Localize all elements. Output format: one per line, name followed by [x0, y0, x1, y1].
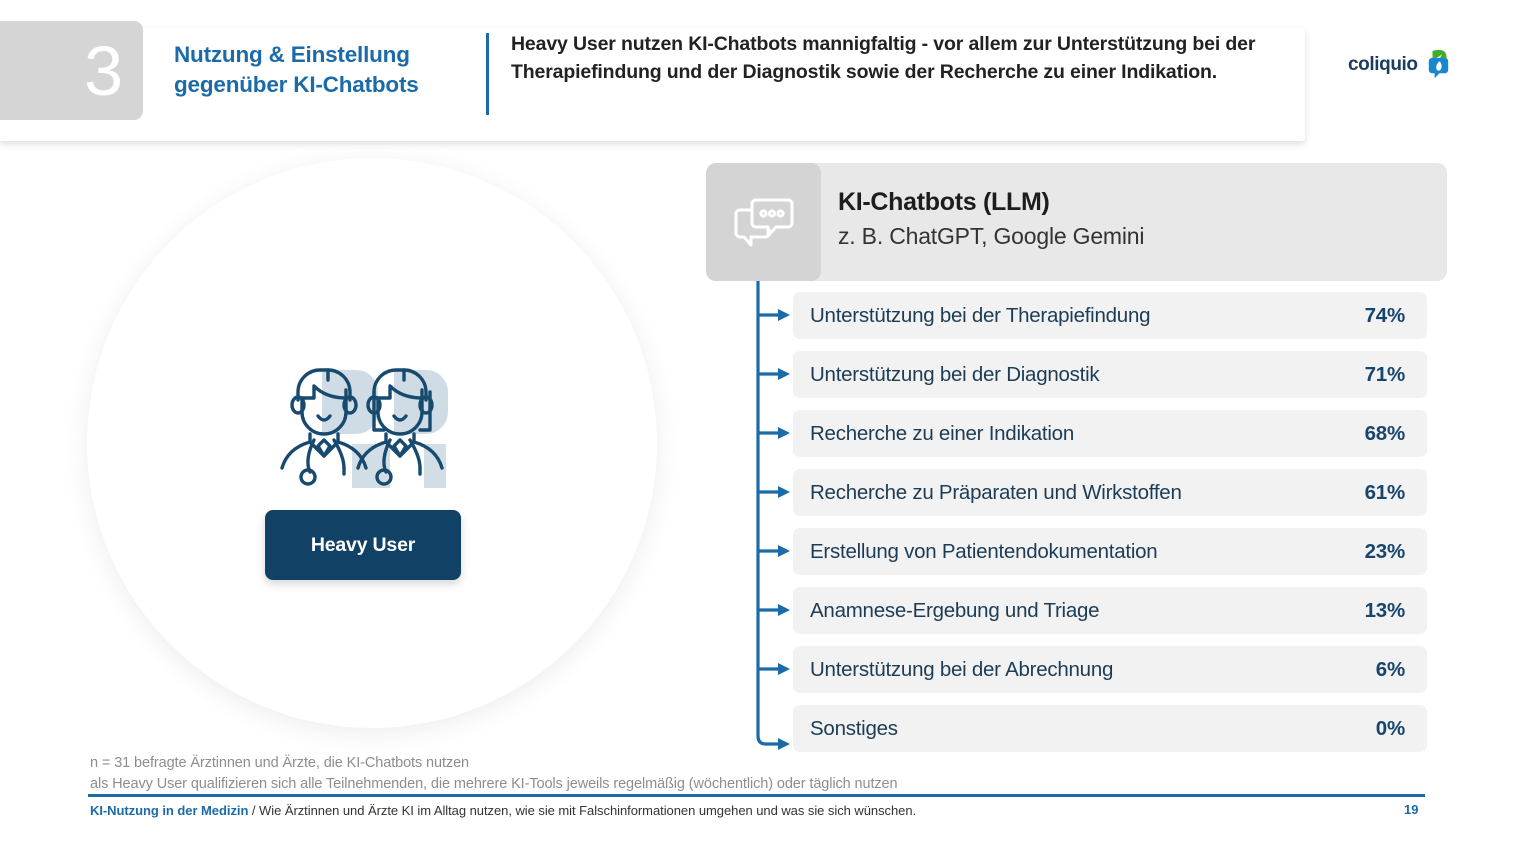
table-row: Unterstützung bei der Abrechnung 6%	[793, 646, 1427, 693]
tool-title: KI-Chatbots (LLM)	[838, 189, 1050, 217]
table-row: Unterstützung bei der Therapiefindung 74…	[793, 292, 1427, 339]
chapter-title: Nutzung & Einstellung gegenüber KI-Chatb…	[174, 40, 464, 100]
table-row: Recherche zu Präparaten und Wirkstoffen …	[793, 469, 1427, 516]
row-value: 71%	[1365, 363, 1405, 387]
chapter-number: 3	[84, 36, 122, 106]
footer-text: KI-Nutzung in der Medizin / Wie Ärztinne…	[90, 802, 916, 820]
page-number: 19	[1404, 802, 1418, 817]
row-label: Sonstiges	[810, 717, 898, 741]
table-row: Sonstiges 0%	[793, 705, 1427, 752]
heavy-user-label: Heavy User	[311, 534, 415, 557]
tool-icon-tile	[706, 163, 821, 281]
footnote-line: n = 31 befragte Ärztinnen und Ärzte, die…	[90, 753, 1000, 774]
table-row: Erstellung von Patientendokumentation 23…	[793, 528, 1427, 575]
row-label: Unterstützung bei der Abrechnung	[810, 658, 1113, 682]
slide-root: 3 Nutzung & Einstellung gegenüber KI-Cha…	[0, 0, 1513, 848]
two-doctors-icon	[266, 358, 462, 493]
coliquio-logo: coliquio	[1348, 47, 1451, 81]
header-statement: Heavy User nutzen KI-Chatbots mannigfalt…	[511, 31, 1301, 86]
footer-title: KI-Nutzung in der Medizin	[90, 803, 248, 818]
row-value: 6%	[1376, 658, 1405, 682]
row-label: Unterstützung bei der Therapiefindung	[810, 304, 1150, 328]
tool-subtitle: z. B. ChatGPT, Google Gemini	[838, 224, 1144, 249]
chat-bubbles-icon	[733, 193, 795, 251]
table-row: Unterstützung bei der Diagnostik 71%	[793, 351, 1427, 398]
chapter-badge: 3	[0, 21, 143, 120]
row-value: 23%	[1365, 540, 1405, 564]
row-label: Unterstützung bei der Diagnostik	[810, 363, 1099, 387]
row-value: 68%	[1365, 422, 1405, 446]
logo-leaf-bubble-icon	[1419, 49, 1451, 79]
row-label: Anamnese-Ergebung und Triage	[810, 599, 1099, 623]
row-label: Recherche zu Präparaten und Wirkstoffen	[810, 481, 1182, 505]
row-label: Recherche zu einer Indikation	[810, 422, 1074, 446]
table-row: Anamnese-Ergebung und Triage 13%	[793, 587, 1427, 634]
row-value: 74%	[1365, 304, 1405, 328]
footer-subtitle: / Wie Ärztinnen und Ärzte KI im Alltag n…	[248, 803, 916, 818]
table-row: Recherche zu einer Indikation 68%	[793, 410, 1427, 457]
logo-wordmark: coliquio	[1348, 55, 1418, 74]
row-value: 0%	[1376, 717, 1405, 741]
heavy-user-badge: Heavy User	[265, 510, 461, 580]
footnote-line: als Heavy User qualifizieren sich alle T…	[90, 774, 1000, 795]
row-value: 13%	[1365, 599, 1405, 623]
footnotes: n = 31 befragte Ärztinnen und Ärzte, die…	[90, 753, 1000, 794]
usage-list: Unterstützung bei der Therapiefindung 74…	[793, 292, 1427, 752]
footer-divider	[88, 794, 1425, 797]
row-value: 61%	[1365, 481, 1405, 505]
header-divider	[486, 33, 489, 115]
row-label: Erstellung von Patientendokumentation	[810, 540, 1157, 564]
